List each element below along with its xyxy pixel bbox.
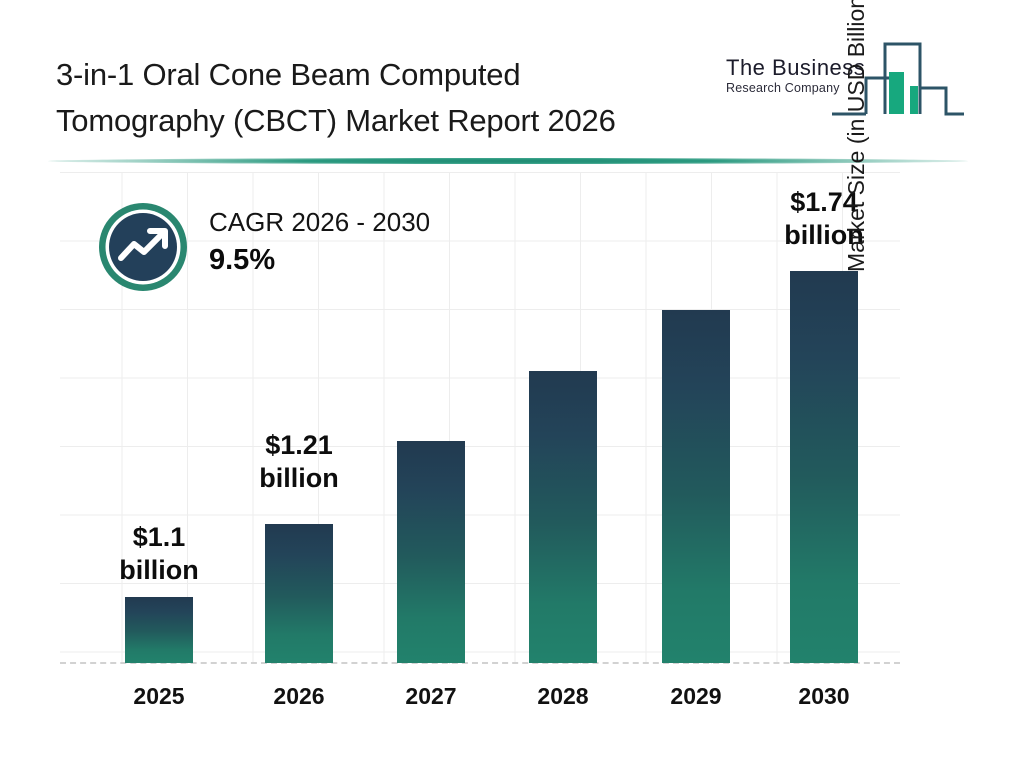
value-label-2026: $1.21 billion [224,429,374,495]
trending-up-icon [96,200,190,294]
bar-series [0,0,1024,768]
x-axis-label-2029: 2029 [626,683,766,710]
bar-2028[interactable] [529,371,597,663]
x-axis-label-2027: 2027 [361,683,501,710]
bar-2030[interactable] [790,271,858,663]
value-label-2026-amount: $1.21 [224,429,374,462]
bar-2027[interactable] [397,441,465,663]
bar-2025[interactable] [125,597,193,663]
cagr-range-label: CAGR 2026 - 2030 [209,204,509,240]
x-axis-label-2026: 2026 [229,683,369,710]
x-axis-label-2028: 2028 [493,683,633,710]
x-axis-label-2025: 2025 [89,683,229,710]
value-label-2030-amount: $1.74 [749,186,899,219]
value-label-2025-amount: $1.1 [84,521,234,554]
cagr-value-label: 9.5% [209,240,509,280]
value-label-2025: $1.1 billion [84,521,234,587]
cagr-text-block: CAGR 2026 - 2030 9.5% [209,204,509,280]
value-label-2026-unit: billion [224,462,374,495]
cagr-callout: CAGR 2026 - 2030 9.5% [96,200,516,304]
x-axis-label-2030: 2030 [754,683,894,710]
bar-2026[interactable] [265,524,333,663]
value-label-2030: $1.74 billion [749,186,899,252]
value-label-2030-unit: billion [749,219,899,252]
slide-root: 3-in-1 Oral Cone Beam Computed Tomograph… [0,0,1024,768]
value-label-2025-unit: billion [84,554,234,587]
bar-2029[interactable] [662,310,730,663]
y-axis-title: Market Size (in USD Billion) [843,0,870,272]
